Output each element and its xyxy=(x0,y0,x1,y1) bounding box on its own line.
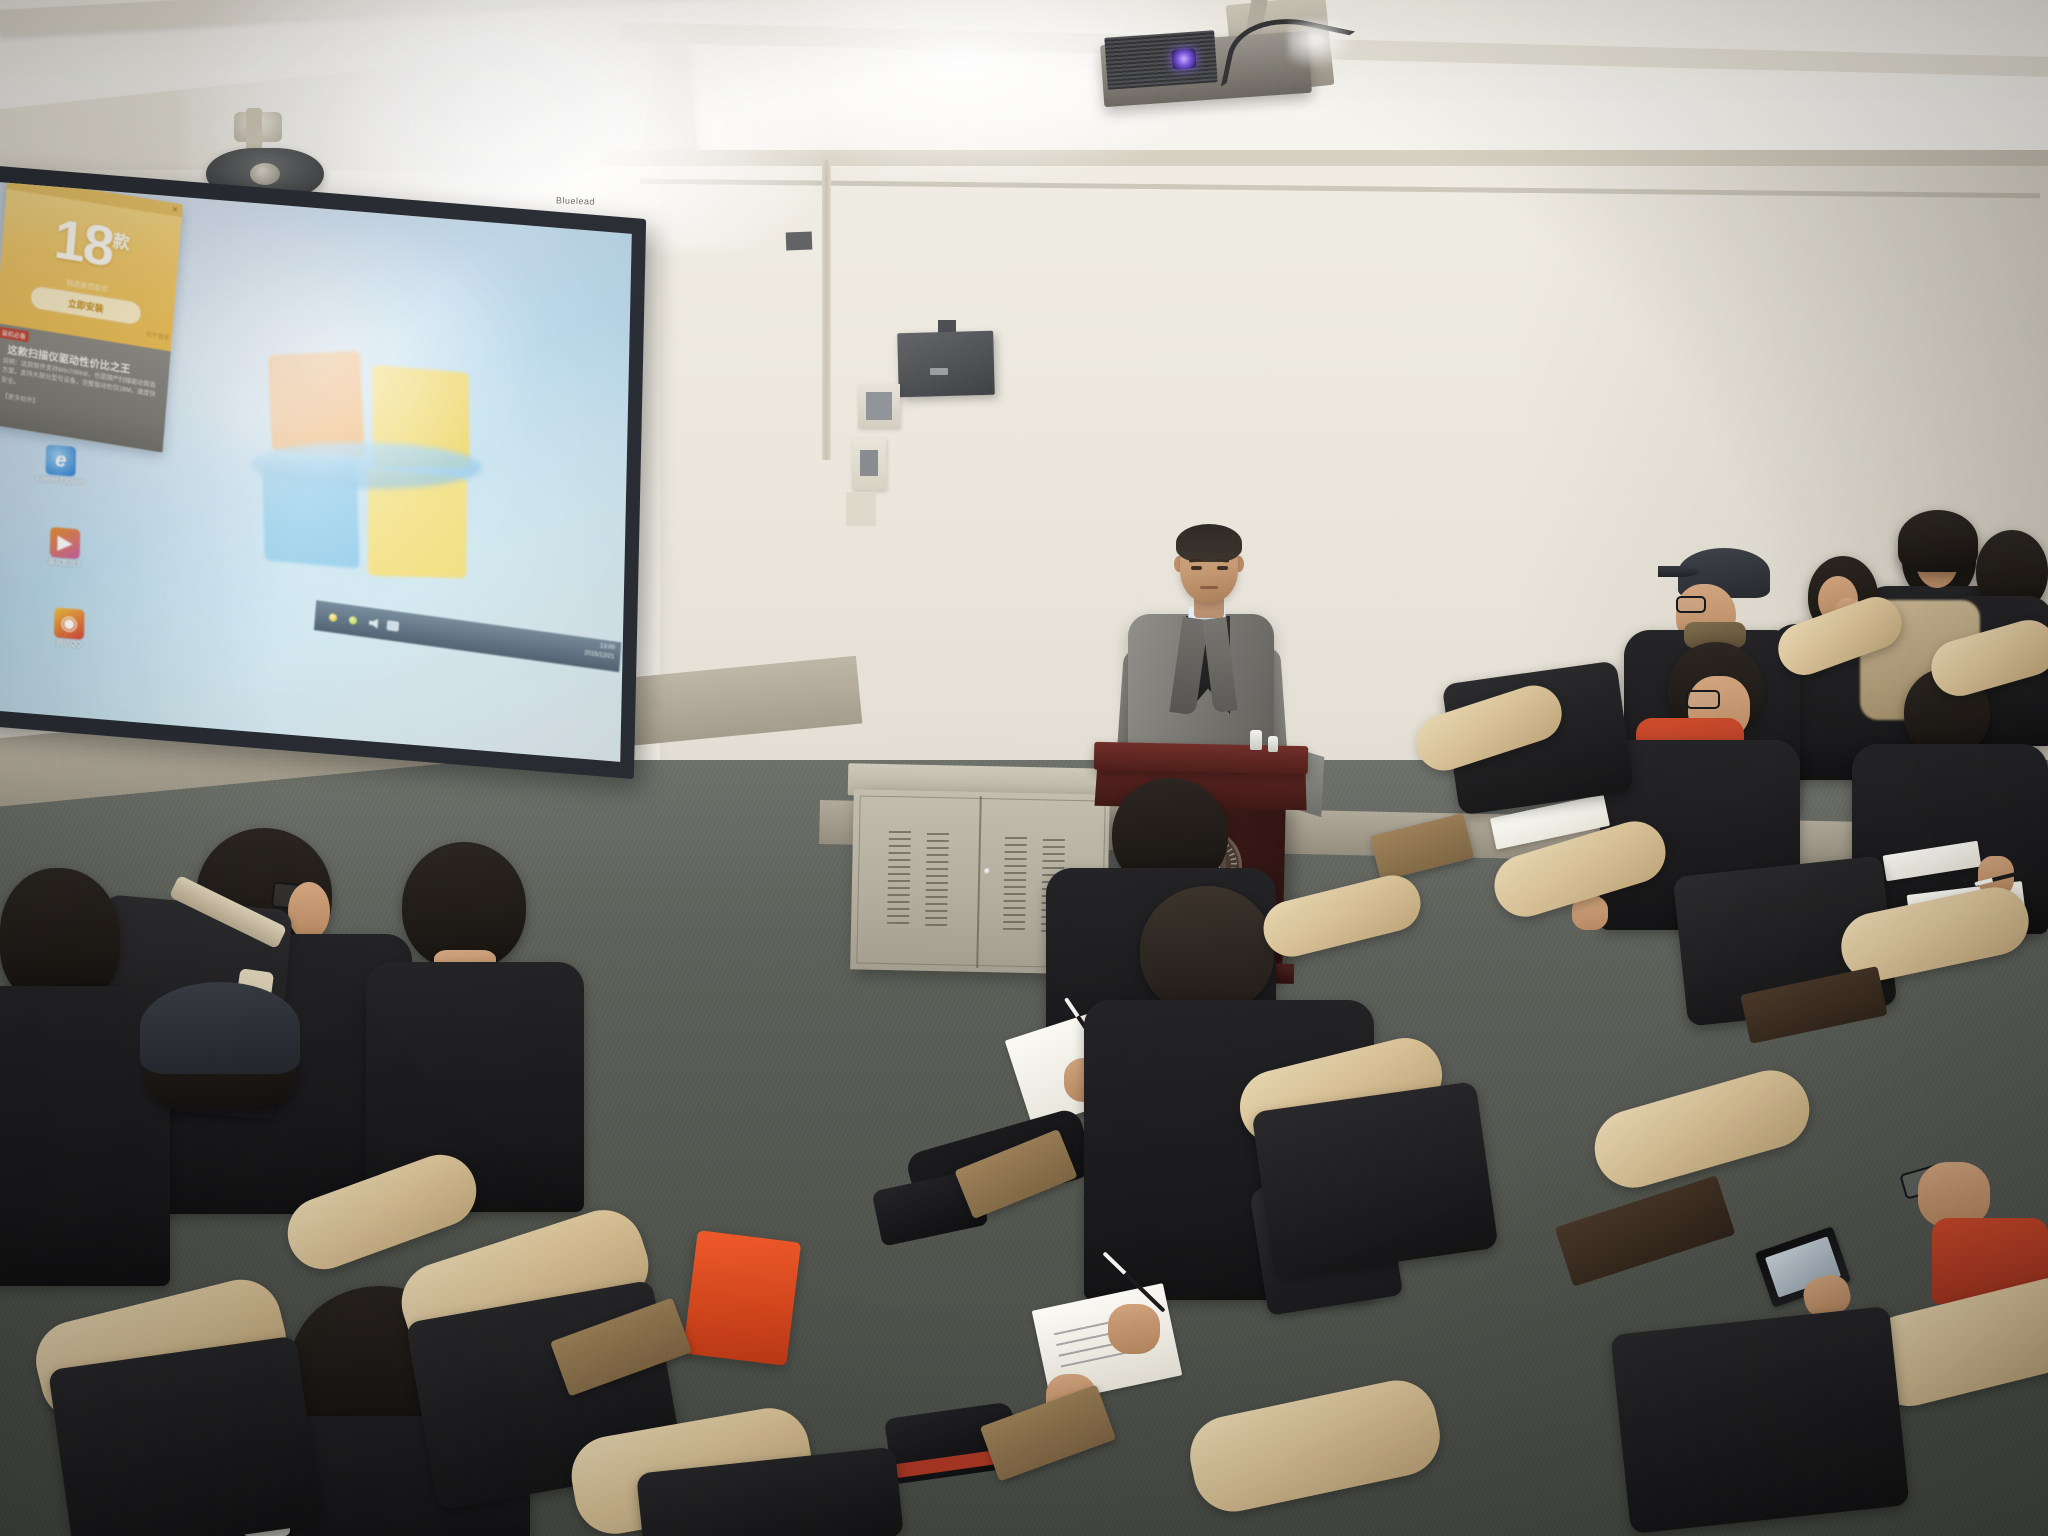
close-icon[interactable]: ✕ xyxy=(171,205,178,215)
promo-count-unit: 款 xyxy=(112,232,128,253)
input-method-icon[interactable] xyxy=(387,620,400,632)
presenter-eye xyxy=(1217,566,1228,570)
cap-brim xyxy=(1658,566,1700,577)
media-player-icon: ▶ xyxy=(50,527,81,559)
power-outlet-panel[interactable] xyxy=(846,492,876,526)
attendee-hand xyxy=(1108,1304,1160,1354)
more-software-link[interactable]: 【更多软件】 xyxy=(1,390,39,405)
presenter-mouth xyxy=(1200,586,1218,589)
attendee-head xyxy=(0,868,120,1004)
lecture-hall-photo: ♲ 回收站 W WPS office 文字 文档 ▣ 计算机 ▤ 新建文本 e … xyxy=(0,0,2048,1536)
seat-back xyxy=(1610,1306,1909,1534)
presenter-eye xyxy=(1191,566,1202,570)
projector-vent-grille xyxy=(1104,30,1217,90)
qq-icon: ◉ xyxy=(54,607,85,639)
attendee-head xyxy=(1140,886,1274,1014)
control-panel-screen xyxy=(866,392,892,420)
desktop-icon-qq[interactable]: ◉ 腾讯QQ xyxy=(42,606,97,650)
seat-back xyxy=(1251,1081,1498,1279)
wall-speaker xyxy=(897,331,995,397)
network-icon[interactable] xyxy=(349,616,358,625)
switch-panel-face xyxy=(860,450,878,476)
promo-tag-badge: 装机必备 xyxy=(0,327,29,343)
wall-sensor xyxy=(786,232,813,251)
desktop-icon-media-player[interactable]: ▶ 暴风影音 5 xyxy=(37,526,92,570)
eyeglasses xyxy=(1686,690,1720,709)
promo-count-value: 18 xyxy=(52,206,115,278)
water-bottle[interactable] xyxy=(1250,730,1262,750)
attendee-hair xyxy=(1898,510,1978,572)
eyeglasses xyxy=(1676,596,1706,613)
presenter-hair xyxy=(1176,524,1242,562)
cabinet-vent xyxy=(887,830,911,924)
shield-icon[interactable] xyxy=(329,613,338,622)
internet-explorer-icon: e xyxy=(45,444,76,476)
taskbar-clock[interactable]: 13:00 2015/12/21 xyxy=(584,640,615,662)
projection-screen: ♲ 回收站 W WPS office 文字 文档 ▣ 计算机 ▤ 新建文本 e … xyxy=(0,165,646,779)
orange-tote-bag xyxy=(683,1230,801,1366)
speaker-badge xyxy=(930,368,948,375)
desktop-icon-internet-explorer[interactable]: e Internet Explorer xyxy=(33,443,88,487)
cabinet-lock-icon[interactable] xyxy=(984,868,991,875)
projector-lens-icon xyxy=(1171,48,1196,70)
attendee-face xyxy=(288,882,330,940)
screen-brand-label: Bluelead xyxy=(556,195,595,206)
wall-conduit xyxy=(822,160,831,460)
cap xyxy=(140,982,300,1074)
cabinet-vent xyxy=(1003,836,1027,930)
projected-desktop: ♲ 回收站 W WPS office 文字 文档 ▣ 计算机 ▤ 新建文本 e … xyxy=(0,182,632,762)
promo-popup[interactable]: ✕ 18款 精选推荐软件 立即安装 软件管家 装机必备 这款扫描仪驱动性价比之王… xyxy=(0,182,183,453)
seat-back xyxy=(48,1336,322,1536)
volume-icon[interactable] xyxy=(369,618,379,629)
cabinet-vent xyxy=(925,832,949,926)
microphone-base[interactable] xyxy=(1268,736,1278,752)
fan-hub xyxy=(250,163,280,185)
ceiling-light-glare xyxy=(1288,20,1358,70)
